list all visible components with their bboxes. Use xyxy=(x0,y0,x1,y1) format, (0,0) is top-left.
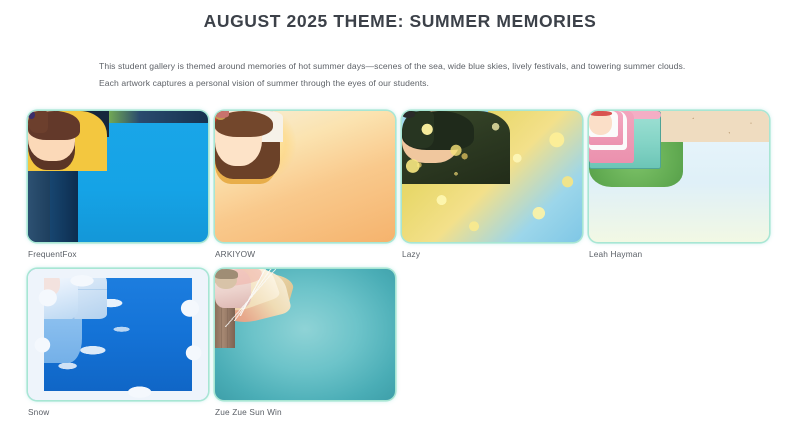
festival-trio-artwork[interactable] xyxy=(215,111,395,242)
char2-mouth xyxy=(215,111,229,118)
page-title: AUGUST 2025 THEME: SUMMER MEMORIES xyxy=(0,11,800,32)
artwork-artist-label: Snow xyxy=(28,407,208,418)
pale-line-3 xyxy=(215,269,287,327)
stone-frame-chunks xyxy=(28,269,208,400)
artwork-artist-label: Lazy xyxy=(402,249,582,260)
girl-eye xyxy=(28,111,35,119)
aquarium-girl-artwork[interactable] xyxy=(28,111,208,242)
blue-sky-knight-artwork[interactable] xyxy=(28,269,208,400)
artwork-card[interactable]: Snow xyxy=(28,269,208,418)
winged-figure-artwork[interactable] xyxy=(215,269,395,400)
artwork-card[interactable]: ARKIYOW xyxy=(215,111,395,260)
boy-in-flowers-artwork[interactable] xyxy=(402,111,582,242)
artwork-artist-label: ARKIYOW xyxy=(215,249,395,260)
girl2-headband xyxy=(589,111,612,116)
gallery-page: AUGUST 2025 THEME: SUMMER MEMORIES This … xyxy=(0,0,800,448)
yellow-blossom-bokeh xyxy=(402,111,582,242)
artwork-card[interactable]: FrequentFox xyxy=(28,111,208,260)
artwork-card[interactable]: Lazy xyxy=(402,111,582,260)
theme-description: This student gallery is themed around me… xyxy=(99,58,703,92)
artwork-artist-label: Zue Zue Sun Win xyxy=(215,407,395,418)
artwork-card[interactable]: Leah Hayman xyxy=(589,111,769,260)
artwork-artist-label: Leah Hayman xyxy=(589,249,769,260)
artwork-artist-label: FrequentFox xyxy=(28,249,208,260)
artwork-card[interactable]: Zue Zue Sun Win xyxy=(215,269,395,418)
ice-cream-truck-artwork[interactable] xyxy=(589,111,769,242)
artwork-gallery-grid: FrequentFox xyxy=(28,111,776,418)
